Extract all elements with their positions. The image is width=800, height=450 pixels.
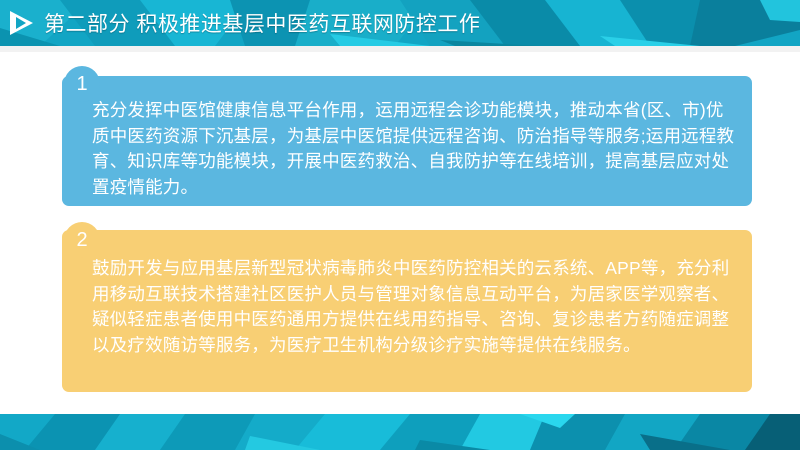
content-block-2: 鼓励开发与应用基层新型冠状病毒肺炎中医药防控相关的云系统、APP等，充分利用移动… (62, 230, 752, 392)
content-block-1-number: 1 (76, 73, 87, 96)
content-block-2-number: 2 (76, 229, 87, 252)
footer-band (0, 414, 800, 450)
slide-canvas: 第二部分 积极推进基层中医药互联网防控工作 充分发挥中医馆健康信息平台作用，运用… (0, 0, 800, 450)
content-block-1: 充分发挥中医馆健康信息平台作用，运用远程会诊功能模块，推动本省(区、市)优质中医… (62, 76, 752, 206)
content-block-1-text: 充分发挥中医馆健康信息平台作用，运用远程会诊功能模块，推动本省(区、市)优质中医… (92, 98, 736, 200)
header-band: 第二部分 积极推进基层中医药互联网防控工作 (0, 0, 800, 46)
footer-polygon-decoration (0, 414, 800, 450)
content-block-2-number-badge: 2 (64, 222, 100, 258)
content-block-2-text: 鼓励开发与应用基层新型冠状病毒肺炎中医药防控相关的云系统、APP等，充分利用移动… (92, 256, 736, 358)
header-underline-divider (0, 46, 800, 52)
header-title-row: 第二部分 积极推进基层中医药互联网防控工作 (0, 0, 800, 46)
play-triangle-icon (6, 8, 36, 38)
page-title: 第二部分 积极推进基层中医药互联网防控工作 (44, 8, 480, 38)
content-block-1-number-badge: 1 (64, 66, 100, 102)
